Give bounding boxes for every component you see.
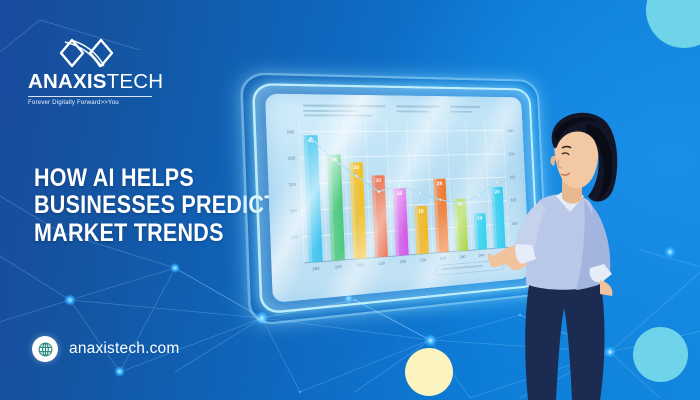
svg-text:180: 180 xyxy=(459,255,465,260)
logo-wordmark: ANAXISTECH xyxy=(28,72,152,93)
svg-text:150: 150 xyxy=(420,258,427,263)
svg-text:240: 240 xyxy=(287,130,295,134)
svg-text:160: 160 xyxy=(291,235,299,240)
svg-text:220: 220 xyxy=(288,156,296,161)
glow-node xyxy=(424,334,437,347)
svg-text:140: 140 xyxy=(478,253,484,257)
glow-node xyxy=(664,246,676,258)
brand-logo[interactable]: ANAXISTECH Forever Digitally Forward>>Yo… xyxy=(28,36,152,106)
logo-name-light: TECH xyxy=(107,70,164,93)
glow-node xyxy=(170,263,180,273)
svg-text:170: 170 xyxy=(440,256,447,261)
logo-name-bold: ANAXIS xyxy=(28,70,107,93)
banner-canvas: ANAXISTECH Forever Digitally Forward>>Yo… xyxy=(0,0,700,400)
globe-icon xyxy=(32,336,58,362)
decorative-circle-top-right xyxy=(646,0,700,48)
logo-divider xyxy=(28,96,152,97)
svg-text:25: 25 xyxy=(397,191,403,197)
svg-text:190: 190 xyxy=(399,260,406,265)
svg-text:35: 35 xyxy=(353,165,360,172)
logo-tagline: Forever Digitally Forward>>You xyxy=(28,99,152,106)
person-illustration xyxy=(488,112,658,400)
svg-text:190: 190 xyxy=(378,261,385,266)
website-url[interactable]: anaxistech.com xyxy=(32,336,180,362)
svg-text:250: 250 xyxy=(357,263,364,268)
svg-text:180: 180 xyxy=(312,267,320,272)
svg-text:30: 30 xyxy=(375,178,381,184)
decorative-circle-yellow xyxy=(405,348,453,396)
svg-text:14: 14 xyxy=(477,216,483,222)
glow-node xyxy=(64,294,76,306)
svg-text:180: 180 xyxy=(290,209,298,214)
svg-text:28: 28 xyxy=(437,181,443,187)
svg-text:200: 200 xyxy=(289,183,297,188)
svg-text:18: 18 xyxy=(418,208,424,214)
url-text: anaxistech.com xyxy=(69,340,180,358)
svg-text:190: 190 xyxy=(335,265,342,270)
anaxis-diamond-swoosh-icon xyxy=(38,36,150,70)
glow-node xyxy=(114,366,125,377)
